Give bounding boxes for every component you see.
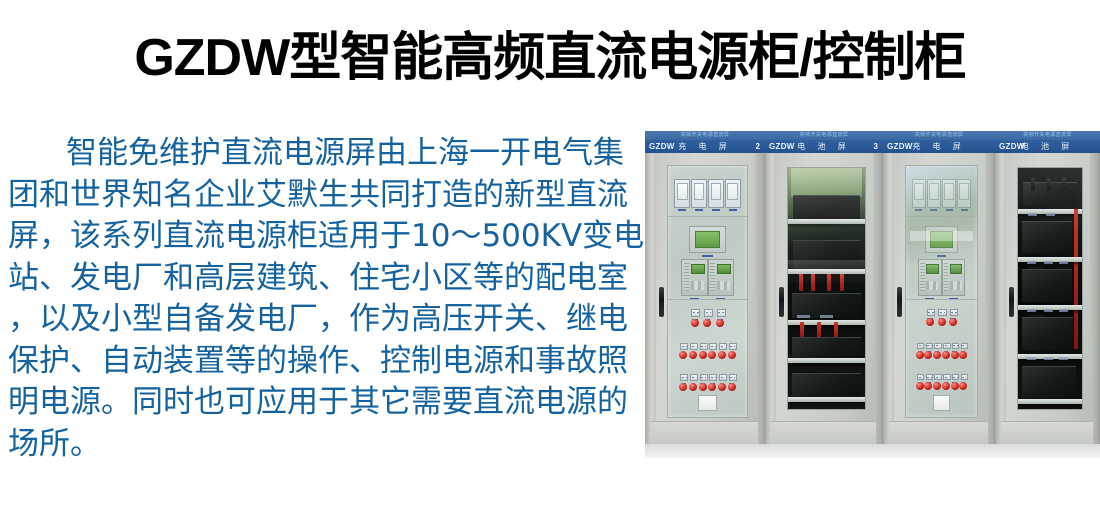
breaker <box>700 343 706 350</box>
description-line: 站、发电厂和高层建筑、住宅小区等的配电室 <box>8 258 650 300</box>
breaker <box>717 309 724 317</box>
cabinet-name: 充 电 屏 <box>645 140 765 153</box>
door-handle-icon <box>897 287 902 317</box>
indicator-led <box>718 383 726 391</box>
breaker-row <box>906 374 977 380</box>
breaker <box>927 309 933 316</box>
description-line: 屏，该系列直流电源柜适用于10～500KV变电 <box>8 216 650 258</box>
breaker <box>691 309 698 317</box>
indicator-led <box>716 319 724 327</box>
product-photo: 高频开关电源直流屏 GZDW 充 电 屏 2 <box>645 131 1100 458</box>
meter-group <box>674 179 740 207</box>
breaker <box>680 343 686 350</box>
description-line: 智能免维护直流电源屏由上海一开电气集 <box>8 133 650 175</box>
breaker <box>961 374 966 380</box>
cabinet-subtitle: 高频开关电源直流屏 <box>645 131 765 140</box>
meter-group <box>912 179 972 207</box>
indicator-led <box>933 351 941 359</box>
breaker-row <box>668 309 747 317</box>
breaker-row <box>668 343 747 350</box>
panel-meter <box>725 179 741 209</box>
indicator-led <box>689 383 697 391</box>
rectifier-module <box>918 259 941 296</box>
indicator-led <box>679 351 687 359</box>
breaker <box>719 374 725 381</box>
indicator-led <box>916 382 924 390</box>
breaker <box>961 343 966 349</box>
indicator-led <box>924 351 932 359</box>
breaker <box>709 374 715 381</box>
indicator-led <box>942 382 950 390</box>
breaker-row <box>906 343 977 349</box>
breaker <box>704 309 711 317</box>
breaker <box>952 374 957 380</box>
indicator-led <box>718 351 726 359</box>
breaker <box>690 374 696 381</box>
indicator-led <box>959 382 967 390</box>
indicator-led <box>938 318 946 326</box>
breaker <box>952 343 957 349</box>
indicator-led <box>933 382 941 390</box>
cabinet-subtitle: 高频开关电源直流屏 <box>995 131 1100 140</box>
cabinet-name: 电 池 屏 <box>765 140 883 153</box>
cabinet-battery-3: 高频开关电源直流屏 GZDW 电 池 屏 3 <box>765 131 883 444</box>
panel-meter <box>912 179 927 209</box>
lcd-monitor <box>925 226 958 253</box>
cabinet-header: 高频开关电源直流屏 GZDW 充 电 屏 <box>883 131 995 154</box>
cabinet-header: 高频开关电源直流屏 GZDW 电 池 屏 3 <box>765 131 883 154</box>
rectifier-module <box>708 259 734 296</box>
breaker <box>917 374 922 380</box>
breaker <box>729 374 735 381</box>
rectifier-module <box>681 259 707 296</box>
panel-meter <box>691 179 707 209</box>
indicator-led <box>924 382 932 390</box>
lcd-monitor <box>689 226 725 253</box>
cabinet-header: 高频开关电源直流屏 GZDW 电 池 屏 <box>995 131 1100 154</box>
description-line: 明电源。同时也可应用于其它需要直流电源的 <box>8 382 650 424</box>
breaker <box>719 343 725 350</box>
panel-meter <box>674 179 690 209</box>
breaker <box>943 374 948 380</box>
breaker <box>934 343 939 349</box>
slide-root: GZDW型智能高频直流电源柜/控制柜 智能免维护直流电源屏由上海一开电气集 团和… <box>0 0 1100 515</box>
nameplate <box>698 395 717 411</box>
indicator-led <box>699 351 707 359</box>
indicator-led <box>949 318 957 326</box>
panel-meter <box>708 179 724 209</box>
cabinet-subtitle: 高频开关电源直流屏 <box>765 131 883 140</box>
cabinet-number: 2 <box>756 140 760 153</box>
breaker <box>709 343 715 350</box>
nameplate <box>933 395 950 411</box>
rectifier-module <box>942 259 965 296</box>
product-description: 智能免维护直流电源屏由上海一开电气集 团和世界知名企业艾默生共同打造的新型直流 … <box>8 133 650 465</box>
cabinet-name: 电 池 屏 <box>995 140 1100 153</box>
cabinet-battery-right: 高频开关电源直流屏 GZDW 电 池 屏 <box>995 131 1100 444</box>
door-handle-icon <box>659 287 664 317</box>
cabinet-header: 高频开关电源直流屏 GZDW 充 电 屏 2 <box>645 131 765 154</box>
cabinet-number: 3 <box>874 140 878 153</box>
cabinet-subtitle: 高频开关电源直流屏 <box>883 131 995 140</box>
breaker <box>926 374 931 380</box>
breaker-row <box>668 374 747 381</box>
indicator-led <box>959 351 967 359</box>
indicator-led <box>926 318 934 326</box>
indicator-led <box>951 351 959 359</box>
description-line: 保护、自动装置等的操作、控制电源和事故照 <box>8 341 650 383</box>
breaker <box>943 343 948 349</box>
indicator-led <box>708 351 716 359</box>
description-line: 团和世界知名企业艾默生共同打造的新型直流 <box>8 175 650 217</box>
breaker <box>917 343 922 349</box>
breaker <box>934 374 939 380</box>
charger-door <box>905 165 978 418</box>
page-title: GZDW型智能高频直流电源柜/控制柜 <box>0 28 1100 88</box>
battery-door <box>1017 167 1083 410</box>
breaker <box>700 374 706 381</box>
indicator-led <box>916 351 924 359</box>
cabinet-charger-right: 高频开关电源直流屏 GZDW 充 电 屏 <box>883 131 995 444</box>
door-handle-icon <box>779 287 784 317</box>
indicator-led <box>951 382 959 390</box>
cabinet-name: 充 电 屏 <box>883 140 995 153</box>
breaker-row <box>906 309 977 316</box>
description-line: 场所。 <box>8 424 650 466</box>
charger-door <box>667 165 748 418</box>
breaker <box>729 343 735 350</box>
cabinet-charger-2: 高频开关电源直流屏 GZDW 充 电 屏 2 <box>645 131 765 444</box>
panel-meter <box>957 179 972 209</box>
door-handle-icon <box>1009 287 1014 317</box>
breaker <box>690 343 696 350</box>
breaker <box>680 374 686 381</box>
indicator-led <box>708 383 716 391</box>
breaker <box>926 343 931 349</box>
rectifier-module-group <box>681 259 733 294</box>
breaker <box>950 309 956 316</box>
panel-meter <box>942 179 957 209</box>
battery-door <box>787 167 866 410</box>
breaker <box>938 309 944 316</box>
indicator-led <box>703 319 711 327</box>
indicator-led <box>942 351 950 359</box>
indicator-led <box>728 383 736 391</box>
indicator-led <box>728 351 736 359</box>
rectifier-module-group <box>918 259 965 294</box>
indicator-led <box>691 319 699 327</box>
indicator-led <box>689 351 697 359</box>
description-line: ，以及小型自备发电厂，作为高压开关、继电 <box>8 299 650 341</box>
indicator-led <box>699 383 707 391</box>
panel-meter <box>927 179 942 209</box>
indicator-led <box>679 383 687 391</box>
